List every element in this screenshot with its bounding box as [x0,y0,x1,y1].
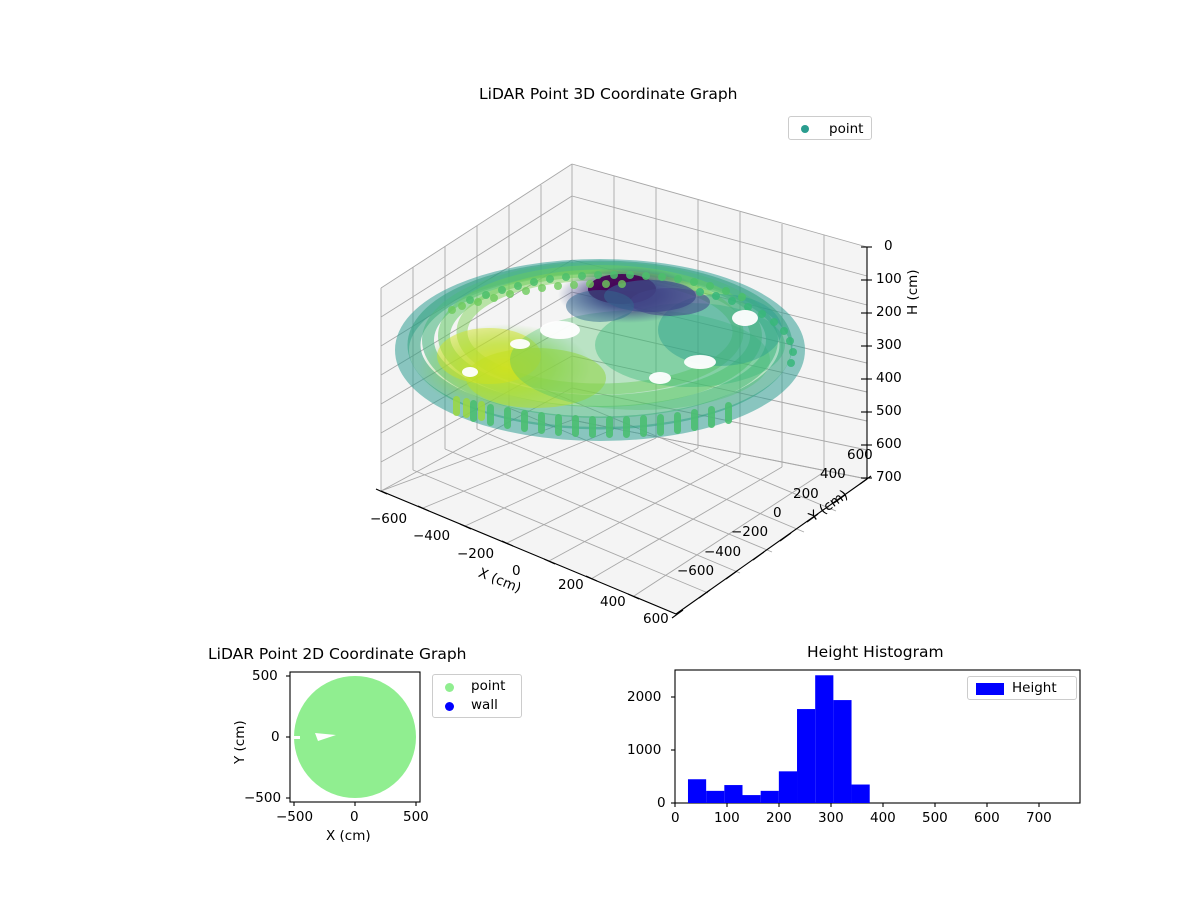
histogram-xtick-3: 300 [818,810,844,826]
plot3d-ztick-4: 400 [876,370,902,386]
lidar-3d-plot-panel: LiDAR Point 3D Coordinate Graph point [0,0,1200,630]
plot3d-ztick-3: 300 [876,337,902,353]
legend-height-swatch-icon [976,683,1004,695]
plot3d-ytick-6: −600 [677,563,714,579]
histogram-xtick-0: 0 [671,810,680,826]
plot3d-ztick-7: 700 [876,469,902,485]
plot3d-xtick-0: −600 [370,511,407,527]
histogram-bar [815,675,833,803]
histogram-xtick-7: 700 [1026,810,1052,826]
histogram-bar [779,771,797,803]
plot2d-axes-svg [150,630,570,900]
plot3d-xtick-4: 200 [558,577,584,593]
histogram-bar [743,795,761,803]
plot3d-ytick-0: 600 [847,447,873,463]
plot2d-ytick-1: 0 [271,729,280,745]
histogram-bar [833,700,851,803]
figure-canvas: LiDAR Point 3D Coordinate Graph point [0,0,1200,900]
plot3d-ztick-1: 100 [876,271,902,287]
plot3d-ytick-4: −200 [731,524,768,540]
plot3d-ztick-0: 0 [884,238,893,254]
histogram-xtick-4: 400 [870,810,896,826]
legend-wall-label: wall [471,697,498,713]
legend-height-label: Height [1012,680,1057,696]
plot3d-ytick-3: 0 [773,505,782,521]
histogram-bar [688,779,706,803]
height-histogram-panel: Height Histogram 0 100 200 300 400 [600,630,1120,900]
histogram-bar [797,709,815,803]
plot3d-xtick-3: 0 [512,563,521,579]
plot2d-ytick-0: 500 [252,668,278,684]
histogram-xtick-1: 100 [714,810,740,826]
plot2d-xtick-2: 500 [403,809,429,825]
legend-point-marker-icon [445,683,454,692]
legend-wall-marker-icon [445,702,454,711]
plot2d-xaxis-title: X (cm) [326,828,371,844]
plot3d-ytick-5: −400 [704,544,741,560]
histogram-bar [761,791,779,803]
histogram-axes-svg [600,630,1120,900]
plot2d-yaxis-title: Y (cm) [232,720,248,764]
plot3d-xtick-6: 600 [643,611,669,627]
plot3d-axes-svg [0,0,1200,630]
plot2d-xtick-0: −500 [276,809,313,825]
histogram-xtick-5: 500 [922,810,948,826]
plot3d-xtick-1: −400 [413,528,450,544]
plot3d-ytick-2: 200 [793,486,819,502]
plot2d-legend[interactable]: point wall [432,674,522,718]
histogram-bar [852,785,870,803]
legend-row-wall[interactable]: wall [433,696,521,716]
plot2d-xtick-1: 0 [350,809,359,825]
plot3d-xtick-5: 400 [600,594,626,610]
plot3d-ytick-1: 400 [820,466,846,482]
plot3d-ztick-5: 500 [876,403,902,419]
histogram-ytick-0: 0 [657,795,666,811]
plot3d-ztick-6: 600 [876,436,902,452]
histogram-bar [706,791,724,803]
histogram-xtick-6: 600 [974,810,1000,826]
histogram-ytick-1: 1000 [627,742,661,758]
legend-point-label: point [471,678,505,694]
plot3d-ztick-2: 200 [876,304,902,320]
histogram-bar [724,785,742,803]
plot3d-point-cloud [402,266,798,438]
plot3d-zaxis-title: H (cm) [905,269,921,315]
histogram-ytick-2: 2000 [627,689,661,705]
legend-row-point[interactable]: point [433,677,521,697]
plot3d-xtick-2: −200 [457,546,494,562]
histogram-legend[interactable]: Height [967,676,1077,700]
histogram-xtick-2: 200 [766,810,792,826]
lidar-2d-plot-panel: LiDAR Point 2D Coordinate Graph [150,630,570,900]
plot2d-ytick-2: −500 [244,790,281,806]
